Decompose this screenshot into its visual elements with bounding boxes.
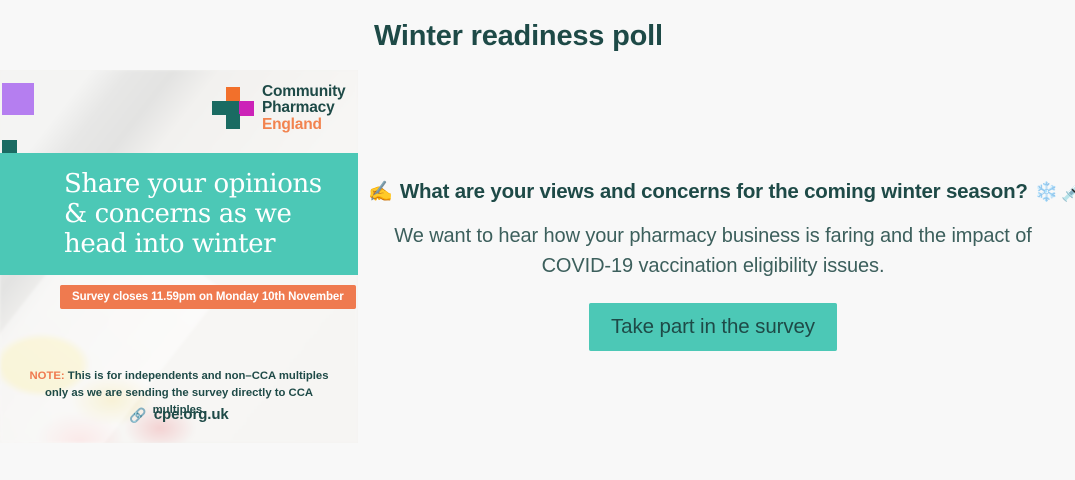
poll-question-row: ✍️ What are your views and concerns for …	[368, 180, 1075, 204]
poll-page: Winter readiness poll Community Pharmacy…	[0, 0, 1075, 480]
page-title: Winter readiness poll	[374, 20, 663, 53]
promo-website-link[interactable]: 🔗 cpe.org.uk	[0, 406, 358, 423]
promo-website-url: cpe.org.uk	[154, 406, 229, 423]
poll-question: What are your views and concerns for the…	[400, 180, 1028, 204]
cta-container: Take part in the survey	[368, 303, 1058, 351]
snowflake-syringe-icon: ❄️💉	[1035, 183, 1075, 202]
logo-line-england: England	[262, 117, 345, 133]
promo-headline-band: Share your opinions & concerns as we hea…	[0, 153, 358, 275]
survey-deadline-ribbon: Survey closes 11.59pm on Monday 10th Nov…	[60, 285, 356, 309]
cpe-logo: Community Pharmacy England	[212, 84, 345, 133]
cpe-logo-text: Community Pharmacy England	[262, 84, 345, 133]
link-chain-icon: 🔗	[129, 408, 146, 422]
poll-content: ✍️ What are your views and concerns for …	[368, 180, 1075, 351]
survey-deadline-text: Survey closes 11.59pm on Monday 10th Nov…	[72, 291, 344, 303]
decorative-purple-square	[2, 83, 34, 115]
take-part-in-survey-button[interactable]: Take part in the survey	[589, 303, 837, 351]
logo-line-community: Community	[262, 84, 345, 100]
promo-headline-text: Share your opinions & concerns as we hea…	[0, 169, 358, 259]
writing-hand-icon: ✍️	[368, 182, 393, 202]
poll-description: We want to hear how your pharmacy busine…	[368, 222, 1058, 281]
pharmacy-cross-icon	[212, 87, 254, 129]
promo-image: Community Pharmacy England Share your op…	[0, 70, 358, 443]
promo-note-tag: NOTE:	[30, 370, 65, 382]
logo-line-pharmacy: Pharmacy	[262, 100, 345, 116]
